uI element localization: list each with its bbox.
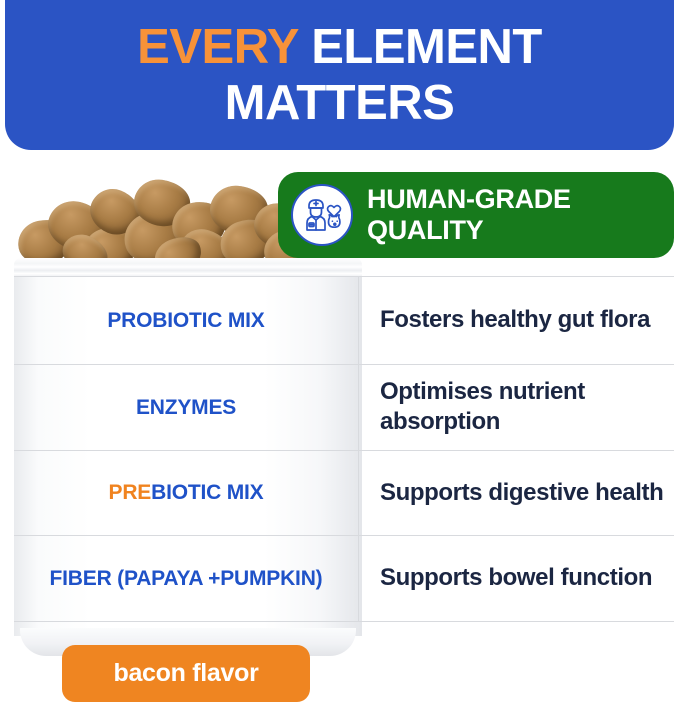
headline-line-2: MATTERS	[225, 75, 455, 131]
row-divider	[14, 621, 674, 622]
ingredient-benefit: Supports digestive health	[358, 450, 674, 535]
ingredient-table: PROBIOTIC MIX Fosters healthy gut flora …	[14, 276, 674, 622]
ingredient-label-text: ENZYMES	[136, 394, 236, 421]
headline-accent-word: EVERY	[137, 20, 298, 74]
table-row: PROBIOTIC MIX Fosters healthy gut flora	[14, 276, 674, 364]
table-row: PREBIOTIC MIX Supports digestive health	[14, 450, 674, 535]
ingredient-benefit: Fosters healthy gut flora	[358, 276, 674, 364]
header-banner: EVERY ELEMENT MATTERS	[5, 0, 674, 150]
human-grade-quality-badge: HUMAN-GRADE QUALITY	[278, 172, 674, 258]
ingredient-label: FIBER (PAPAYA +PUMPKIN)	[14, 535, 358, 621]
flavor-tag: bacon flavor	[62, 645, 310, 702]
table-row: FIBER (PAPAYA +PUMPKIN) Supports bowel f…	[14, 535, 674, 621]
ingredient-benefit: Optimises nutrient absorption	[358, 364, 674, 450]
ingredient-benefit: Supports bowel function	[358, 535, 674, 621]
ingredient-label-accent: PRE	[109, 479, 152, 506]
ingredient-label: ENZYMES	[14, 364, 358, 450]
ingredient-label: PREBIOTIC MIX	[14, 450, 358, 535]
headline-line-1: EVERY ELEMENT	[137, 19, 542, 75]
headline-rest-word: ELEMENT	[298, 20, 542, 74]
badge-text-line-1: HUMAN-GRADE	[367, 184, 571, 215]
ingredient-label-text: BIOTIC MIX	[151, 479, 263, 506]
promo-infographic: EVERY ELEMENT MATTERS	[0, 0, 679, 702]
badge-text-line-2: QUALITY	[367, 215, 571, 246]
jar-rim	[14, 258, 362, 278]
ingredient-label-text: PROBIOTIC MIX	[107, 307, 264, 334]
ingredient-label: PROBIOTIC MIX	[14, 276, 358, 364]
badge-text: HUMAN-GRADE QUALITY	[367, 184, 571, 246]
vet-dog-heart-icon	[291, 184, 353, 246]
ingredient-label-text: FIBER (PAPAYA +PUMPKIN)	[50, 565, 323, 592]
table-row: ENZYMES Optimises nutrient absorption	[14, 364, 674, 450]
